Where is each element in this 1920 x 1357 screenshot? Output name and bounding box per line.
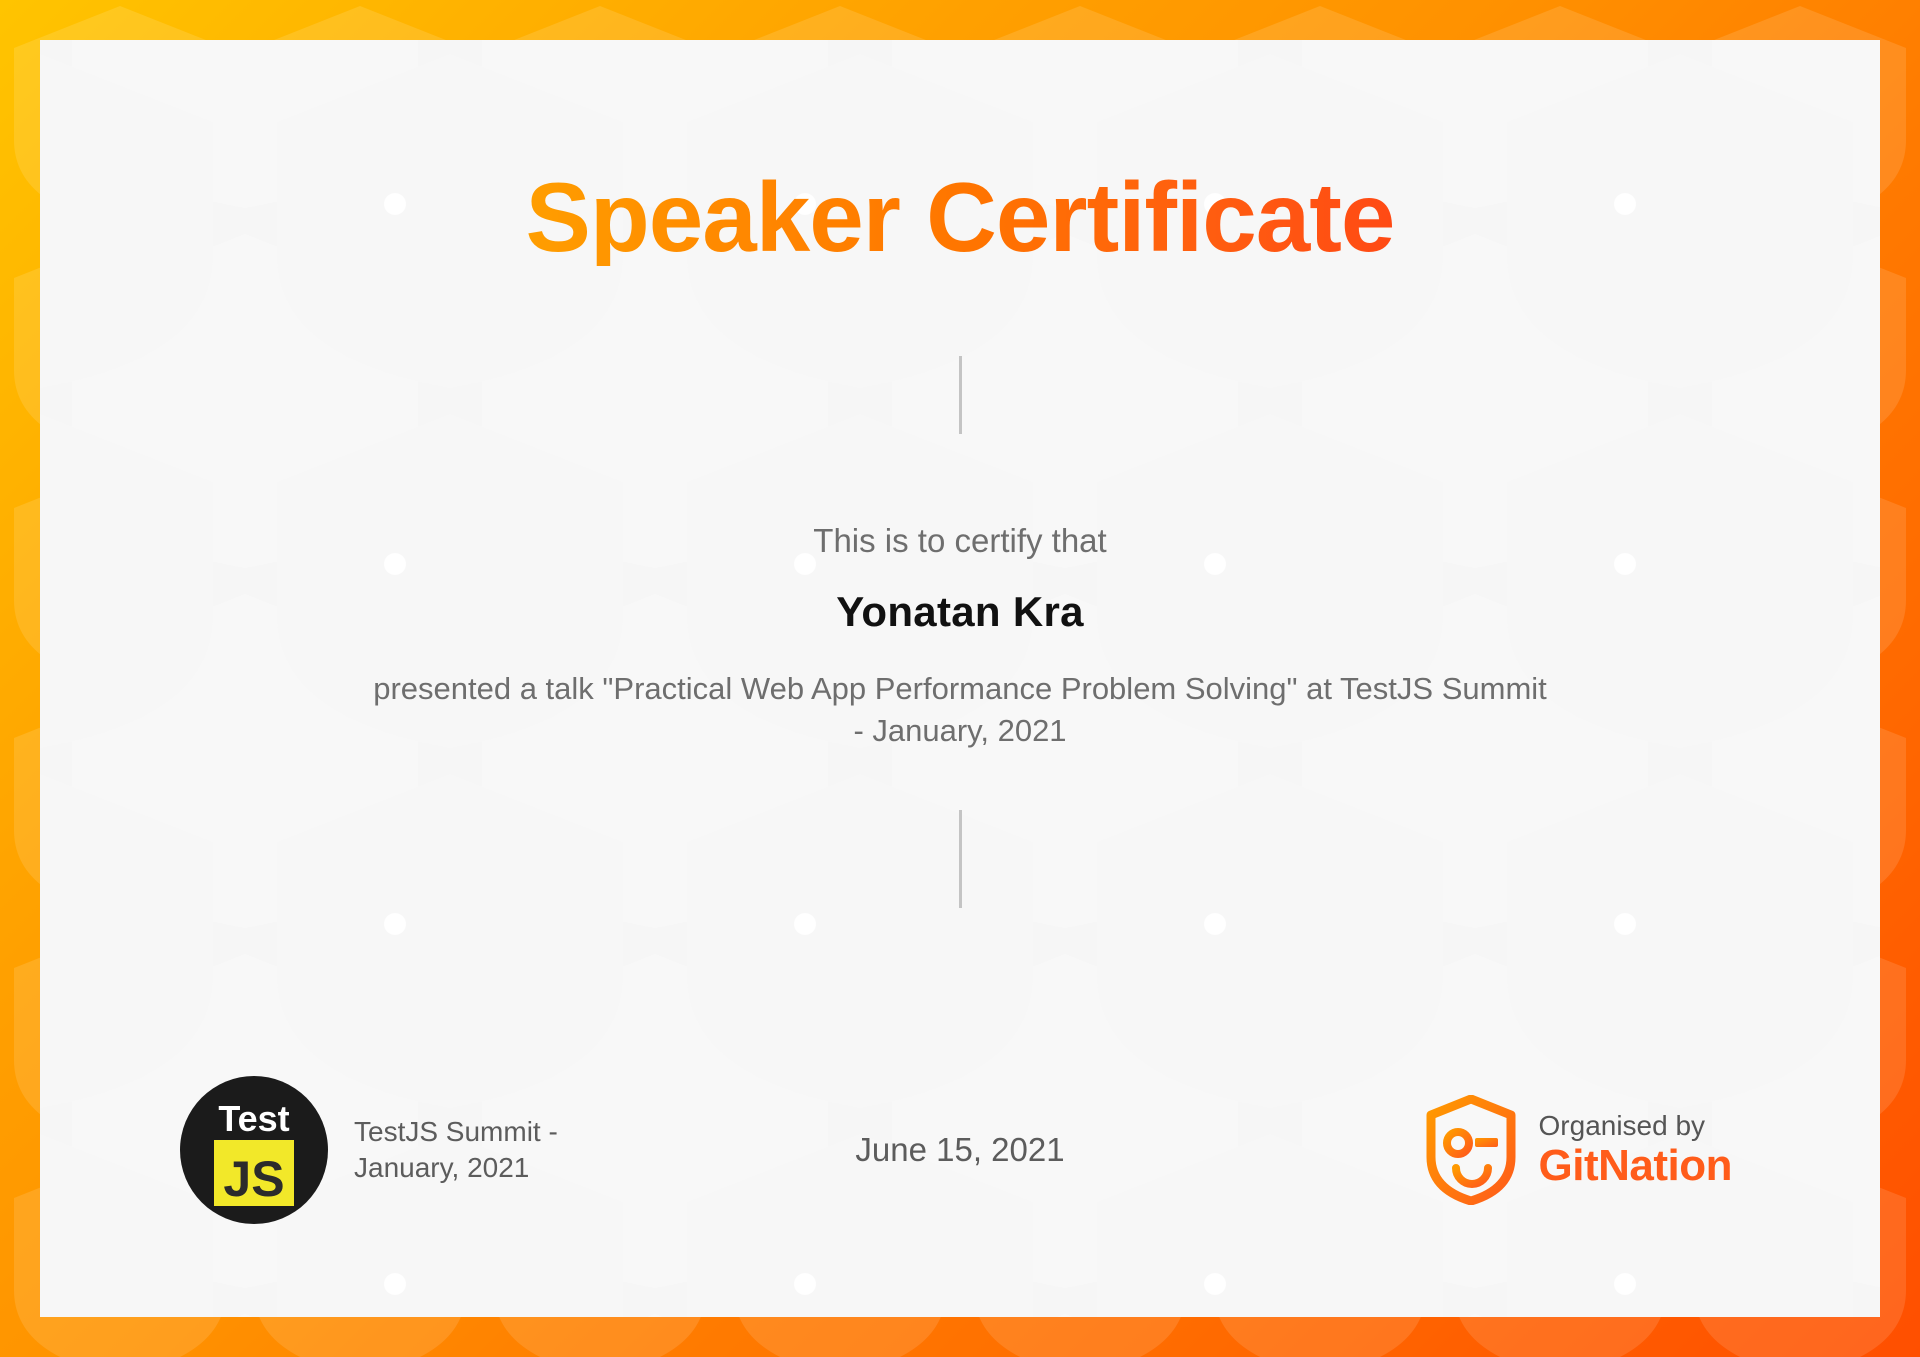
svg-text:Test: Test bbox=[218, 1098, 289, 1139]
certificate-page: Speaker Certificate This is to certify t… bbox=[0, 0, 1920, 1357]
event-branding: Test JS TestJS Summit - January, 2021 bbox=[180, 1076, 574, 1224]
gitnation-shield-face-icon bbox=[1425, 1095, 1517, 1205]
recipient-name: Yonatan Kra bbox=[836, 588, 1084, 636]
divider-bottom bbox=[959, 810, 962, 908]
divider-top bbox=[959, 356, 962, 434]
organised-by-label: Organised by bbox=[1539, 1111, 1732, 1142]
svg-text:JS: JS bbox=[223, 1151, 284, 1207]
organiser-branding: Organised by GitNation bbox=[1425, 1095, 1732, 1205]
talk-description: presented a talk "Practical Web App Perf… bbox=[365, 668, 1555, 752]
gitnation-wordmark: GitNation bbox=[1539, 1143, 1732, 1189]
testjs-logo-icon: Test JS bbox=[180, 1076, 328, 1224]
certificate-footer: Test JS TestJS Summit - January, 2021 Ju… bbox=[40, 1075, 1880, 1225]
issue-date: June 15, 2021 bbox=[855, 1131, 1064, 1169]
certificate-card: Speaker Certificate This is to certify t… bbox=[40, 40, 1880, 1317]
certify-line: This is to certify that bbox=[813, 522, 1106, 560]
organiser-text: Organised by GitNation bbox=[1539, 1111, 1732, 1190]
page-title: Speaker Certificate bbox=[526, 168, 1395, 266]
event-label: TestJS Summit - January, 2021 bbox=[354, 1114, 574, 1186]
